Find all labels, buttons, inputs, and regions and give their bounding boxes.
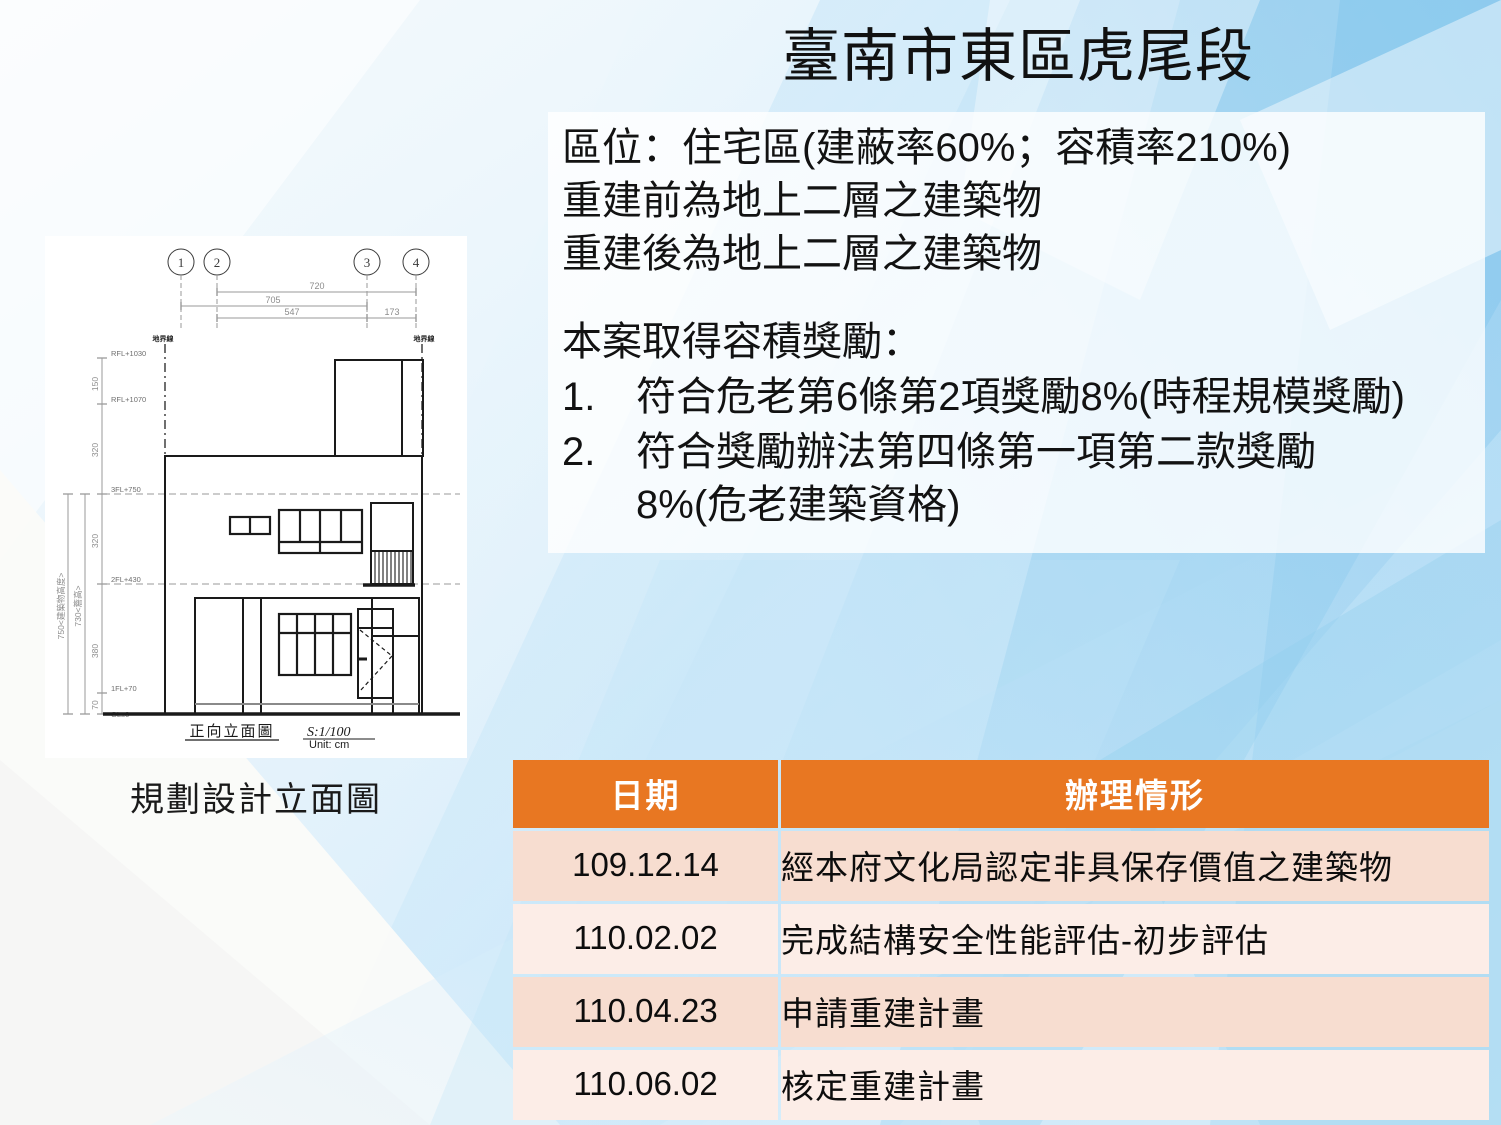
before-line: 重建前為地上二層之建築物 xyxy=(562,175,1475,228)
cell-date: 109.12.14 xyxy=(513,831,778,901)
svg-text:RFL+1070: RFL+1070 xyxy=(111,395,146,404)
list-item-number: 1. xyxy=(562,371,610,424)
ground-line xyxy=(103,704,460,714)
page-title: 臺南市東區虎尾段 xyxy=(548,24,1488,91)
cell-status: 申請重建計畫 xyxy=(781,977,1489,1047)
svg-text:320: 320 xyxy=(90,534,100,548)
incentive-list: 1. 符合危老第6條第2項獎勵8%(時程規模獎勵) 2. 符合獎勵辦法第四條第一… xyxy=(562,371,1475,533)
elevation-drawing-panel: 1 2 3 4 xyxy=(45,236,467,758)
svg-text:750<建築物高度>: 750<建築物高度> xyxy=(56,573,66,640)
svg-text:S:1/100: S:1/100 xyxy=(307,725,351,740)
svg-text:730<簷高>: 730<簷高> xyxy=(73,585,83,626)
info-panel: 區位：住宅區(建蔽率60%；容積率210%) 重建前為地上二層之建築物 重建後為… xyxy=(548,112,1485,553)
svg-text:1FL+70: 1FL+70 xyxy=(111,684,137,693)
svg-text:150: 150 xyxy=(90,377,100,391)
slide-root: 臺南市東區虎尾段 1 2 3 4 xyxy=(0,0,1501,1125)
svg-text:320: 320 xyxy=(90,443,100,457)
list-item: 2. 符合獎勵辦法第四條第一項第二款獎勵 8%(危老建築資格) xyxy=(562,426,1475,532)
ground-floor-window xyxy=(279,614,351,675)
svg-text:3FL+750: 3FL+750 xyxy=(111,485,141,494)
table-row: 110.06.02 核定重建計畫 xyxy=(513,1050,1489,1120)
second-floor-windows xyxy=(230,510,362,553)
svg-text:2: 2 xyxy=(214,255,221,270)
svg-text:地界線: 地界線 xyxy=(153,334,174,343)
svg-text:2FL+430: 2FL+430 xyxy=(111,575,141,584)
table-header-row: 日期 辦理情形 xyxy=(513,760,1489,828)
svg-text:380: 380 xyxy=(90,644,100,658)
svg-text:4: 4 xyxy=(413,255,420,270)
svg-text:720: 720 xyxy=(309,281,324,291)
ground-floor-frontage xyxy=(195,598,419,714)
svg-text:RFL+1030: RFL+1030 xyxy=(111,349,146,358)
table-row: 109.12.14 經本府文化局認定非具保存價值之建築物 xyxy=(513,831,1489,901)
site-boundary-lines xyxy=(165,344,422,714)
svg-text:Unit: cm: Unit: cm xyxy=(309,739,349,751)
svg-text:1: 1 xyxy=(178,255,185,270)
entrance-door xyxy=(358,609,393,698)
table-row: 110.04.23 申請重建計畫 xyxy=(513,977,1489,1047)
grid-bubbles: 1 2 3 4 xyxy=(168,249,429,331)
vertical-spacer xyxy=(562,282,1475,316)
svg-text:70: 70 xyxy=(90,700,100,710)
list-item: 1. 符合危老第6條第2項獎勵8%(時程規模獎勵) xyxy=(562,371,1475,424)
svg-text:173: 173 xyxy=(384,307,399,317)
svg-text:3: 3 xyxy=(364,255,371,270)
drawing-caption: 規劃設計立面圖 xyxy=(45,772,467,821)
list-item-number: 2. xyxy=(562,426,610,479)
building-outline xyxy=(165,360,423,714)
incentive-heading: 本案取得容積獎勵： xyxy=(562,316,1475,369)
cell-date: 110.06.02 xyxy=(513,1050,778,1120)
cell-date: 110.02.02 xyxy=(513,904,778,974)
cell-status: 完成結構安全性能評估-初步評估 xyxy=(781,904,1489,974)
elevation-drawing-svg: 1 2 3 4 xyxy=(45,236,467,758)
svg-text:705: 705 xyxy=(265,295,280,305)
progress-table: 日期 辦理情形 109.12.14 經本府文化局認定非具保存價值之建築物 110… xyxy=(510,757,1492,1123)
list-item-text: 符合獎勵辦法第四條第一項第二款獎勵 xyxy=(636,426,1475,479)
vertical-dimension-chain xyxy=(63,358,107,714)
list-item-text: 符合危老第6條第2項獎勵8%(時程規模獎勵) xyxy=(636,371,1475,424)
balcony-railing xyxy=(363,503,415,585)
drawing-inner-caption: 正向立面圖 S:1/100 Unit: cm xyxy=(185,723,375,751)
svg-text:547: 547 xyxy=(284,307,299,317)
cell-status: 經本府文化局認定非具保存價值之建築物 xyxy=(781,831,1489,901)
column-header-status: 辦理情形 xyxy=(781,760,1489,828)
svg-text:正向立面圖: 正向立面圖 xyxy=(189,723,274,740)
after-line: 重建後為地上二層之建築物 xyxy=(562,228,1475,281)
cell-date: 110.04.23 xyxy=(513,977,778,1047)
list-item-text-cont: 8%(危老建築資格) xyxy=(636,479,1475,532)
column-header-date: 日期 xyxy=(513,760,778,828)
table-row: 110.02.02 完成結構安全性能評估-初步評估 xyxy=(513,904,1489,974)
zoning-line: 區位：住宅區(建蔽率60%；容積率210%) xyxy=(562,122,1475,175)
svg-text:地界線: 地界線 xyxy=(414,334,435,343)
cell-status: 核定重建計畫 xyxy=(781,1050,1489,1120)
